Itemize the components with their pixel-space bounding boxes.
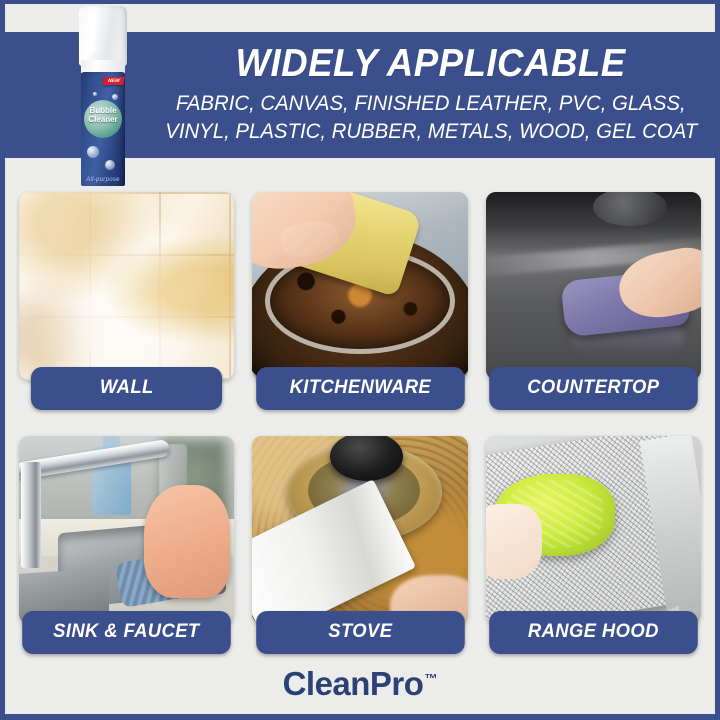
bubble-icon: [87, 146, 99, 158]
sink-faucet-thumbnail: [19, 436, 234, 624]
range-hood-label: RANGE HOOD: [489, 611, 697, 654]
header-subtitle-line-1: FABRIC, CANVAS, FINISHED LEATHER, PVC, G…: [176, 90, 686, 118]
header-text-block: WIDELY APPLICABLE FABRIC, CANVAS, FINISH…: [155, 32, 707, 158]
stove-label: STOVE: [256, 611, 464, 654]
grid-item-wall[interactable]: WALL: [19, 192, 234, 418]
brand-name: CleanPro: [283, 665, 424, 702]
infographic-page: WIDELY APPLICABLE FABRIC, CANVAS, FINISH…: [0, 0, 720, 720]
faucet-column: [21, 462, 40, 567]
kitchenware-label: KITCHENWARE: [256, 367, 464, 410]
bubble-icon: [112, 94, 118, 100]
countertop-label: COUNTERTOP: [489, 367, 697, 410]
grid-item-sink-faucet[interactable]: SINK & FAUCET: [19, 436, 234, 662]
wall-label: WALL: [31, 367, 223, 410]
wall-thumbnail: [19, 192, 234, 380]
page-title: WIDELY APPLICABLE: [236, 44, 626, 85]
bubble-icon: [105, 160, 115, 170]
hand-shape: [486, 504, 542, 579]
rubber-glove-hand: [144, 485, 230, 598]
product-bottle-image: NEW Bubble Cleaner All-purpose: [73, 4, 133, 186]
bubble-icon: [93, 92, 97, 96]
grid-item-range-hood[interactable]: RANGE HOOD: [486, 436, 701, 662]
grid-item-countertop[interactable]: COUNTERTOP: [486, 192, 701, 418]
bottle-product-name: Bubble Cleaner: [81, 106, 125, 124]
bottle-name-line-1: Bubble: [81, 106, 125, 115]
countertop-illustration: [486, 192, 701, 380]
range-hood-filter-illustration: [486, 436, 701, 624]
kitchenware-thumbnail: [252, 192, 467, 380]
bottle-subtitle: All-purpose: [81, 177, 125, 183]
stove-illustration: [252, 436, 467, 624]
bottle-name-line-2: Cleaner: [81, 115, 125, 124]
brand-logo: CleanPro™: [283, 665, 438, 703]
footer: CleanPro™: [5, 662, 715, 706]
application-grid: WALL KITCHENWARE: [5, 158, 715, 714]
trademark-symbol: ™: [424, 671, 437, 686]
burnt-pot-illustration: [252, 192, 467, 380]
tiled-wall-illustration: [19, 192, 234, 380]
header-subtitle-line-2: VINYL, PLASTIC, RUBBER, METALS, WOOD, GE…: [165, 118, 697, 146]
sink-illustration: [19, 436, 234, 624]
grid-item-kitchenware[interactable]: KITCHENWARE: [252, 192, 467, 418]
bottle-pump-cap: [79, 6, 127, 66]
sink-faucet-label: SINK & FAUCET: [23, 611, 231, 654]
bottle-body: NEW Bubble Cleaner All-purpose: [81, 72, 125, 186]
appliance-shape: [593, 192, 666, 226]
new-badge: NEW: [102, 77, 124, 85]
grid-item-stove[interactable]: STOVE: [252, 436, 467, 662]
range-hood-thumbnail: [486, 436, 701, 624]
stove-thumbnail: [252, 436, 467, 624]
background-wall: [486, 192, 701, 241]
countertop-thumbnail: [486, 192, 701, 380]
